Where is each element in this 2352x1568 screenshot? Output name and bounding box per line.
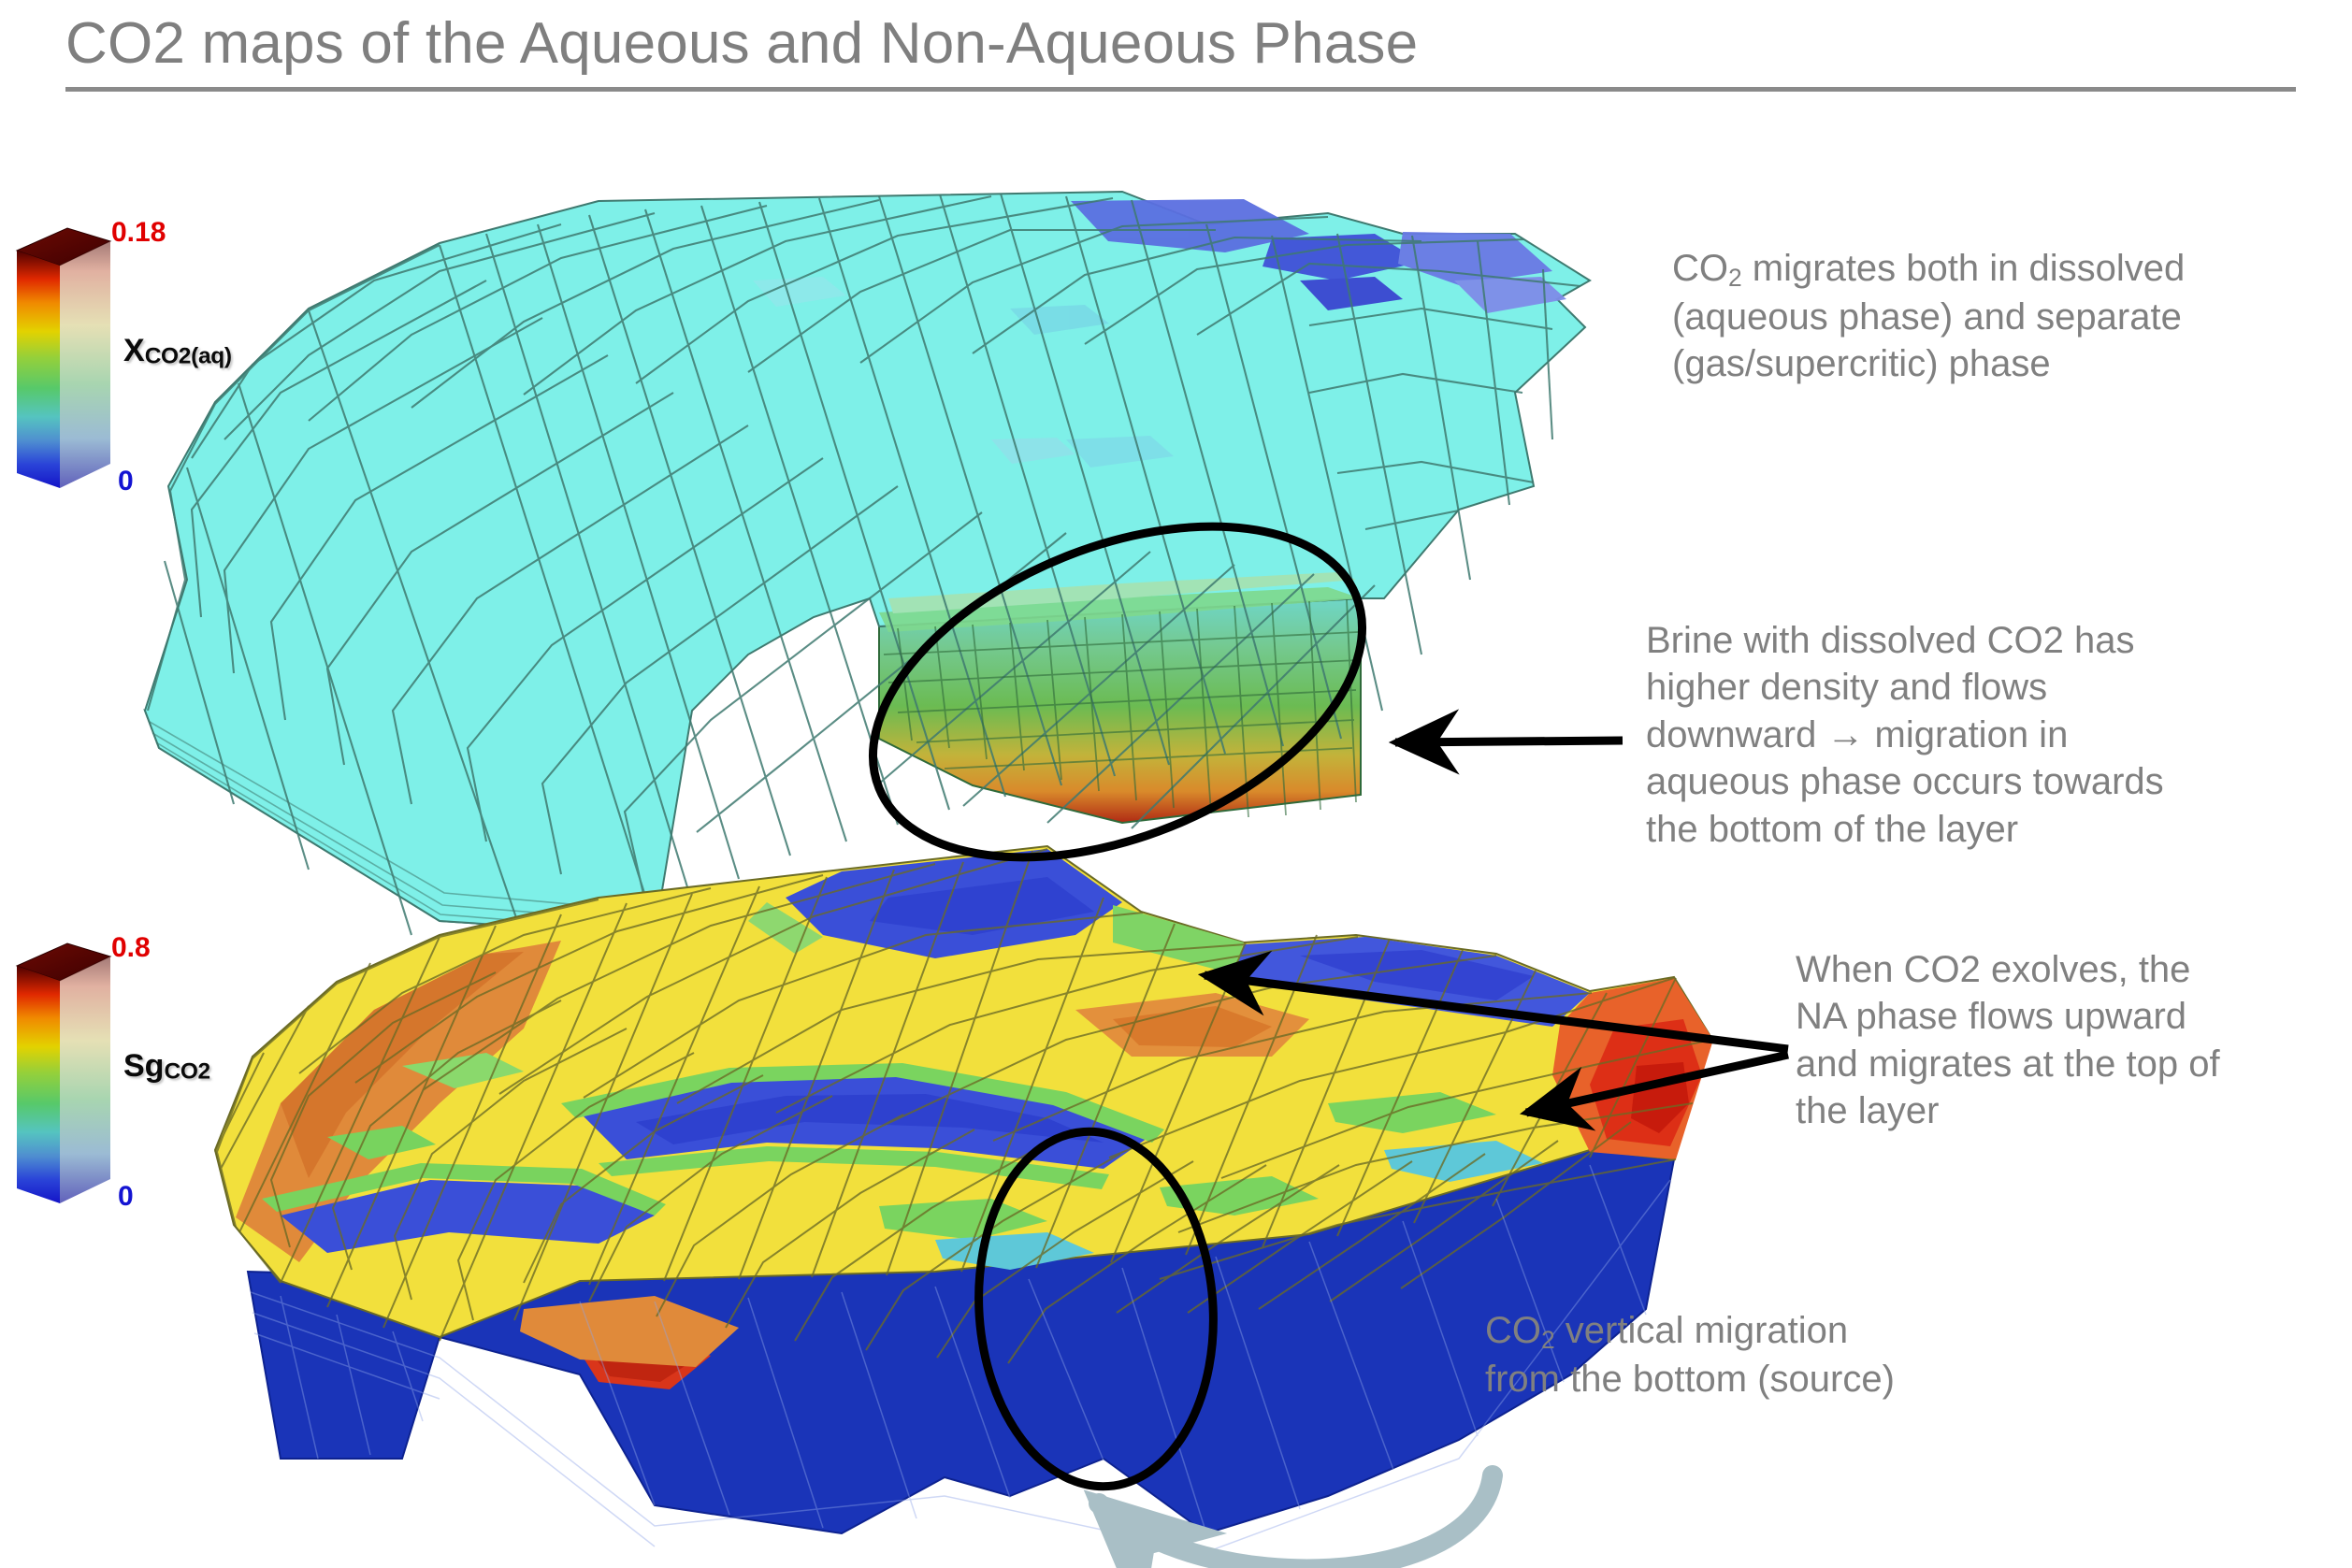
nonaqueous-model [215,846,1713,1552]
legend-min-value: 0 [118,466,134,497]
legend-min-value: 0 [118,1181,134,1213]
legend-aqueous: 0.18 0 XCO2(aq) [13,224,177,496]
colorbar-right-face [60,241,110,488]
colorbar-front-face [17,251,60,488]
aqueous-model [145,192,1590,940]
note-brine: Brine with dissolved CO2 has higher dens… [1646,617,2352,853]
legend-max-value: 0.18 [111,217,166,249]
colorbar-right-face [60,957,110,1203]
note-exolves: When CO2 exolves, the NA phase flows upw… [1796,946,2352,1135]
note-vertical-migration: CO2 vertical migration from the bottom (… [1485,1307,2065,1403]
arrow-brine [1395,741,1623,742]
legend-saturation: 0.8 0 SgCO2 [13,940,177,1211]
note-vertical-rest: vertical migration from the bottom (sour… [1485,1310,1895,1400]
note-migration-rest: migrates both in dissolved (aqueous phas… [1672,248,2185,384]
legend-label-aqueous: XCO2(aq) [123,333,232,369]
note-vertical-prefix: CO [1485,1310,1541,1351]
note-migration: CO2 migrates both in dissolved (aqueous … [1672,245,2345,388]
note-migration-prefix: CO [1672,248,1728,289]
legend-label-saturation: SgCO2 [123,1048,210,1085]
note-vertical-sub: 2 [1541,1326,1555,1354]
colorbar-aqueous: 0.18 0 XCO2(aq) [13,224,177,496]
colorbar-saturation: 0.8 0 SgCO2 [13,940,177,1211]
slide-canvas: CO2 maps of the Aqueous and Non-Aqueous … [0,0,2352,1568]
colorbar-front-face [17,966,60,1203]
legend-max-value: 0.8 [111,932,151,964]
note-migration-sub: 2 [1728,264,1742,292]
